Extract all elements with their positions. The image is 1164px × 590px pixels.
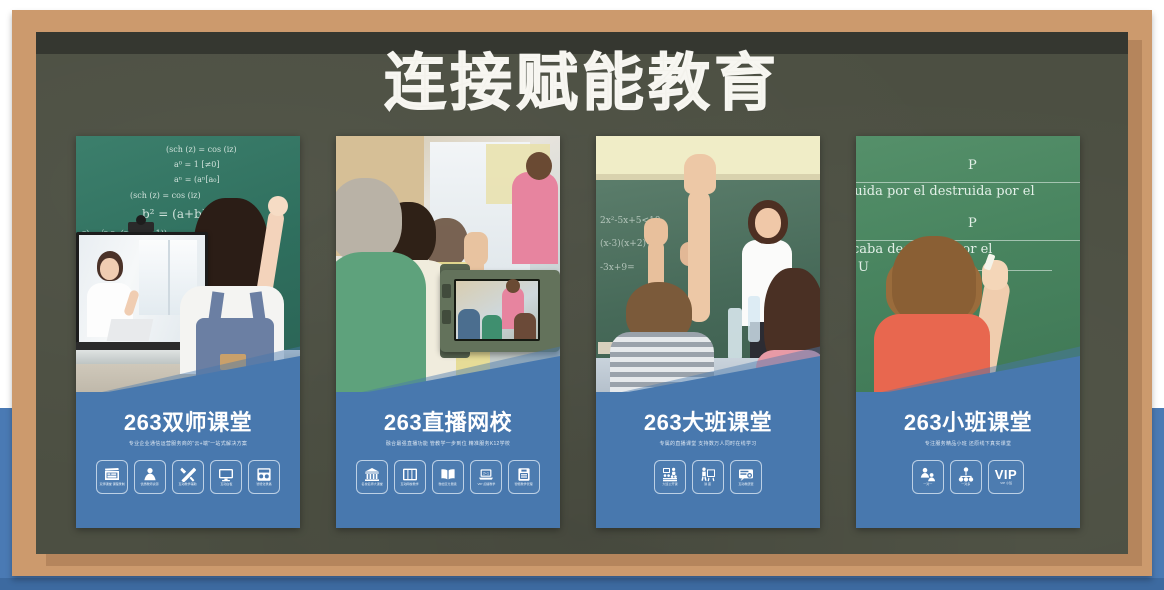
poster-icon-row-2: 名校名师大课堂 互动网校教学 微社区分层级 xyxy=(336,460,560,494)
photo3-teacher-face xyxy=(755,208,781,238)
icon-cell-open-book[interactable]: 微社区分层级 xyxy=(432,460,464,494)
icon-caption: 微社区分层级 xyxy=(439,483,457,486)
icon-cell-school-building[interactable]: 名校名师大课堂 xyxy=(356,460,388,494)
poster-title-1: 263双师课堂 xyxy=(76,412,300,434)
poster-subtitle-1: 专业企业通信运营服务商的“云+端”一站式解决方案 xyxy=(76,442,300,447)
icon-caption: 互动网校教学 xyxy=(401,483,419,486)
icon-cell-data-jar[interactable]: 智能教学管理 xyxy=(508,460,540,494)
icon-cell-one-to-many[interactable]: 一对多 xyxy=(950,460,982,494)
poster-subtitle-2: 融合最强直播功能 管教学一步到位 精准服务K12学校 xyxy=(336,442,560,447)
photo2-teacher-hair xyxy=(526,152,552,180)
chalk-line: (sch (z) = cos (iz) xyxy=(82,188,294,203)
icon-caption: 一对多 xyxy=(961,483,970,486)
icon-cell-whiteboard-easel[interactable]: 讲 座 xyxy=(692,460,724,494)
icon-caption: 优质教师资源 xyxy=(141,483,159,486)
icon-cell-laptop[interactable]: 2+1 VIP 点播教学 xyxy=(470,460,502,494)
poster-subtitle-4: 专注服务精品小班 还原线下真实课堂 xyxy=(856,442,1080,447)
icon-cell-tools[interactable]: 互动教学辅助 xyxy=(172,460,204,494)
poster-title-2: 263直播网校 xyxy=(336,412,560,434)
poster-icon-row-4: 一对一 一对多 VIP VIP 小班 xyxy=(856,460,1080,494)
poster-info-panel-1: 263双师课堂 专业企业通信运营服务商的“云+端”一站式解决方案 双师课堂 课程… xyxy=(76,392,300,528)
photo2-lcd-child2 xyxy=(482,315,502,339)
vip-text-icon: VIP xyxy=(995,468,1017,481)
poster-icon-row-3: 大班公开课 讲 座 互动教研室 xyxy=(596,460,820,494)
data-jar-icon xyxy=(516,467,532,482)
photo1-laptop xyxy=(107,319,154,341)
poster-card-1[interactable]: (sch (z) = cos (iz) a⁰ = 1 [≠0] aⁿ = (aⁿ… xyxy=(76,136,300,528)
icon-cell-bookshelf[interactable]: 互动网校教学 xyxy=(394,460,426,494)
chalk-line: (sch (z) = cos (iz) xyxy=(82,142,294,157)
person-icon xyxy=(142,467,158,482)
icon-cell-person[interactable]: 优质教师资源 xyxy=(134,460,166,494)
poster-card-3[interactable]: 2x²-5x+5<10 (x-3)(x+2)=0 -3x+9= xyxy=(596,136,820,528)
page-title-text: 连接赋能教育 xyxy=(384,52,780,114)
poster-title-3: 263大班课堂 xyxy=(596,412,820,434)
poster-subtitle-3: 专属的直播课堂 支持数万人同时在线学习 xyxy=(596,442,820,447)
icon-cell-lecture-hall[interactable]: 大班公开课 xyxy=(654,460,686,494)
chalk-line: a⁰ = 1 [≠0] xyxy=(82,157,294,172)
photo4-ruled-line-1 xyxy=(856,182,1080,183)
icon-caption: 大班公开课 xyxy=(662,483,677,486)
photo1-teacher-face xyxy=(100,258,119,280)
photo2-lcd-image xyxy=(456,281,538,339)
icon-caption: 互动教学辅助 xyxy=(179,483,197,486)
icon-cell-vip[interactable]: VIP VIP 小班 xyxy=(988,460,1024,494)
poster-info-panel-4: 263小班课堂 专注服务精品小班 还原线下真实课堂 一对一 一对多 xyxy=(856,392,1080,528)
open-book-icon xyxy=(440,467,456,482)
photo2-camcorder xyxy=(440,270,560,352)
photo2-camcorder-grip-top xyxy=(442,284,451,298)
poster-wall-stage: 连接赋能教育 (sch (z) = cos (iz) a⁰ = 1 [≠0] a… xyxy=(0,0,1164,590)
photo4-chalk-line-5: U xyxy=(858,260,869,275)
poster-title-4: 263小班课堂 xyxy=(856,412,1080,434)
photo4-ruled-line-2 xyxy=(856,240,1080,241)
poster-info-panel-3: 263大班课堂 专属的直播课堂 支持数万人同时在线学习 大班公开课 讲 座 xyxy=(596,392,820,528)
poster-card-4[interactable]: P ruida por el destruida por el P caba d… xyxy=(856,136,1080,528)
message-board-icon xyxy=(738,467,754,482)
page-title: 连接赋能教育 xyxy=(0,52,1164,114)
photo3-raised-hand-1 xyxy=(684,154,716,194)
tools-icon xyxy=(180,467,196,482)
photo3-raised-arm-1 xyxy=(688,190,710,322)
icon-caption: 讲 座 xyxy=(705,483,712,486)
server-icon xyxy=(256,467,272,482)
bookshelf-icon xyxy=(402,467,418,482)
photo4-chalk-line-3: P xyxy=(968,216,977,231)
icon-cell-server[interactable]: 智能化录播 xyxy=(248,460,280,494)
one-to-one-icon xyxy=(920,467,936,482)
clapperboard-icon xyxy=(104,467,120,482)
icon-caption: 名校名师大课堂 xyxy=(361,483,382,486)
photo4-student-hair xyxy=(892,236,976,324)
poster-card-2[interactable]: 263直播网校 融合最强直播功能 管教学一步到位 精准服务K12学校 名校名师大… xyxy=(336,136,560,528)
icon-caption: 智能教学管理 xyxy=(515,483,533,486)
monitor-icon xyxy=(218,467,234,482)
poster-icon-row-1: 双师课堂 课程录制 优质教师资源 互动教学辅助 xyxy=(76,460,300,494)
svg-text:2+1: 2+1 xyxy=(483,472,489,476)
photo2-lcd-child3 xyxy=(514,313,536,339)
icon-cell-monitor[interactable]: 互动白板 xyxy=(210,460,242,494)
lecture-hall-icon xyxy=(662,467,678,482)
photo2-teacher-body xyxy=(512,172,558,264)
poster-info-panel-2: 263直播网校 融合最强直播功能 管教学一步到位 精准服务K12学校 名校名师大… xyxy=(336,392,560,528)
icon-cell-message-board[interactable]: 互动教研室 xyxy=(730,460,762,494)
photo4-chalk-line-2: ruida por el destruida por el xyxy=(856,184,1035,199)
photo1-student-hand xyxy=(268,196,288,216)
photo3-water-bottle-2 xyxy=(748,296,760,342)
photo2-camcorder-lcd xyxy=(454,279,540,341)
icon-caption: 互动教研室 xyxy=(738,483,753,486)
photo1-camera-icon xyxy=(128,222,154,232)
school-building-icon xyxy=(364,467,380,482)
icon-cell-clapperboard[interactable]: 双师课堂 课程录制 xyxy=(96,460,128,494)
whiteboard-easel-icon xyxy=(700,467,716,482)
icon-caption: 一对一 xyxy=(923,483,932,486)
icon-caption: VIP 小班 xyxy=(1000,482,1012,485)
icon-caption: 智能化录播 xyxy=(256,483,271,486)
photo2-lcd-child1 xyxy=(458,309,480,339)
icon-caption: VIP 点播教学 xyxy=(477,483,495,486)
poster-row: (sch (z) = cos (iz) a⁰ = 1 [≠0] aⁿ = (aⁿ… xyxy=(0,136,1164,528)
icon-caption: 双师课堂 课程录制 xyxy=(99,483,124,486)
laptop-icon: 2+1 xyxy=(478,467,494,482)
chalk-line: aⁿ = (aⁿ[a₀] xyxy=(82,172,294,187)
photo2-camcorder-grip-bottom xyxy=(442,310,451,324)
icon-caption: 互动白板 xyxy=(220,483,232,486)
background-band-shadow xyxy=(0,578,1164,590)
photo3-water-bottle-1 xyxy=(728,308,742,360)
one-to-many-icon xyxy=(958,467,974,482)
photo4-chalk-line-1: P xyxy=(968,158,977,173)
icon-cell-one-to-one[interactable]: 一对一 xyxy=(912,460,944,494)
